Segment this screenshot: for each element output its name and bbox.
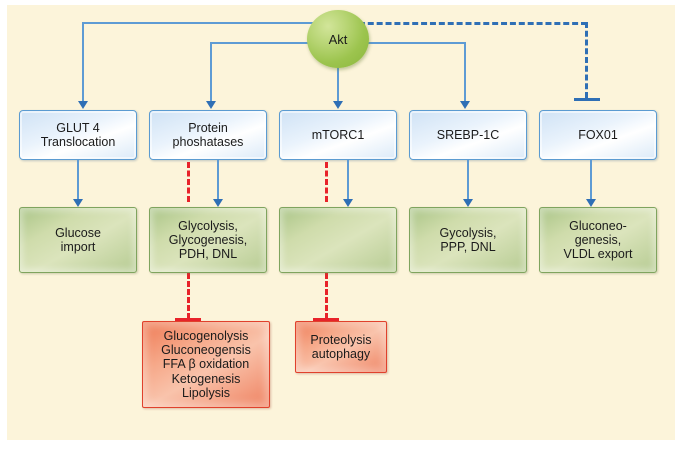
- node-srebp1c[interactable]: SREBP-1C: [409, 110, 527, 160]
- node-glycolysis[interactable]: Glycolysis,Glycogenesis,PDH, DNL: [149, 207, 267, 273]
- connector-akt-to-phosphatases-vertical: [210, 42, 212, 104]
- node-gluconeogenesis-label: Gluconeo-genesis,VLDL export: [563, 219, 632, 262]
- connector-akt-to-srebp-vertical: [464, 42, 466, 104]
- arrowhead-mtorc1: [333, 101, 343, 109]
- node-glucose-import[interactable]: Glucoseimport: [19, 207, 137, 273]
- akt-label: Akt: [329, 32, 348, 47]
- node-fox01[interactable]: FOX01: [539, 110, 657, 160]
- node-proteolysis-label: Proteolysisautophagy: [310, 333, 371, 362]
- node-phosphatases-label: Proteinphoshatases: [173, 121, 244, 150]
- node-proteolysis[interactable]: Proteolysisautophagy: [295, 321, 387, 373]
- node-phosphatases[interactable]: Proteinphoshatases: [149, 110, 267, 160]
- arrowhead-glut4: [78, 101, 88, 109]
- inhibition-mtorc1-upper: [325, 162, 328, 202]
- node-gycolysis-ppp[interactable]: Gycolysis,PPP, DNL: [409, 207, 527, 273]
- tbar-fox01: [574, 98, 600, 101]
- arrowhead-glucose-import: [73, 199, 83, 207]
- node-fox01-label: FOX01: [578, 128, 618, 142]
- arrowhead-glycolysis: [213, 199, 223, 207]
- inhibition-akt-to-fox01-vertical: [585, 22, 588, 98]
- node-glucose-import-label: Glucoseimport: [55, 226, 101, 255]
- connector-fox01-to-gluconeogenesis: [590, 160, 592, 202]
- arrowhead-protein-synthesis: [343, 199, 353, 207]
- node-catabolic[interactable]: GlucogenolysisGluconeogensisFFA β oxidat…: [142, 321, 270, 408]
- inhibition-akt-to-fox01-horizontal: [350, 22, 587, 25]
- connector-akt-to-glut4-vertical: [82, 22, 84, 104]
- connector-phosphatases-to-glycolysis: [217, 160, 219, 202]
- inhibition-phosphatases-lower: [187, 273, 190, 319]
- connector-srebp-to-gycolysis-ppp: [467, 160, 469, 202]
- node-srebp1c-label: SREBP-1C: [437, 128, 500, 142]
- inhibition-phosphatases-upper: [187, 162, 190, 202]
- arrowhead-phosphatases: [206, 101, 216, 109]
- node-glut4[interactable]: GLUT 4Translocation: [19, 110, 137, 160]
- arrowhead-gycolysis-ppp: [463, 199, 473, 207]
- node-mtorc1-label: mTORC1: [312, 128, 365, 142]
- node-mtorc1[interactable]: mTORC1: [279, 110, 397, 160]
- node-catabolic-label: GlucogenolysisGluconeogensisFFA β oxidat…: [161, 329, 251, 400]
- node-protein-synthesis[interactable]: [279, 207, 397, 273]
- connector-glut4-to-glucose-import: [77, 160, 79, 202]
- arrowhead-srebp: [460, 101, 470, 109]
- node-gluconeogenesis[interactable]: Gluconeo-genesis,VLDL export: [539, 207, 657, 273]
- inhibition-mtorc1-lower: [325, 273, 328, 319]
- diagram-canvas: Akt GLUT 4Translocation Proteinphoshatas…: [7, 5, 675, 440]
- node-glut4-label: GLUT 4Translocation: [41, 121, 116, 150]
- node-glycolysis-label: Glycolysis,Glycogenesis,PDH, DNL: [169, 219, 248, 262]
- connector-mtorc1-to-protein-synthesis: [347, 160, 349, 202]
- node-gycolysis-ppp-label: Gycolysis,PPP, DNL: [440, 226, 497, 255]
- arrowhead-gluconeogenesis: [586, 199, 596, 207]
- akt-node[interactable]: Akt: [307, 10, 369, 68]
- connector-akt-to-glut4-horizontal: [82, 22, 327, 24]
